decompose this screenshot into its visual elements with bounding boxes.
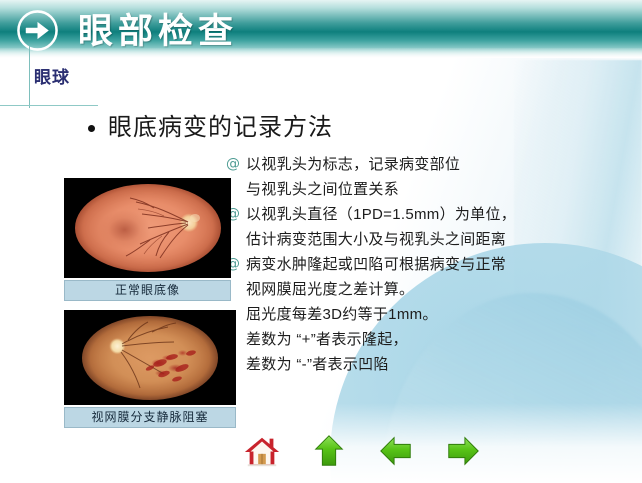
fundus-photo-brvo (64, 310, 236, 405)
arrow-up-icon[interactable] (310, 432, 348, 470)
home-icon[interactable] (243, 432, 281, 470)
arrow-left-icon[interactable] (377, 432, 415, 470)
body-list: @ 以视乳头为标志，记录病变部位 与视乳头之间位置关系 @ 以视乳头直径（1PD… (226, 152, 626, 377)
list-item: @ 以视乳头为标志，记录病变部位 与视乳头之间位置关系 (226, 152, 626, 202)
list-item-line: 估计病变范围大小及与视乳头之间距离 (246, 227, 626, 252)
figure-caption: 视网膜分支静脉阻塞 (64, 407, 236, 428)
figure-normal-fundus: 正常眼底像 (64, 178, 231, 301)
list-item-line: 以视乳头为标志，记录病变部位 (246, 152, 626, 177)
list-item-line: 屈光度每差3D约等于1mm。 (246, 302, 626, 327)
list-item: @ 以视乳头直径（1PD=1.5mm）为单位， 估计病变范围大小及与视乳头之间距… (226, 202, 626, 252)
list-item-line: 与视乳头之间位置关系 (246, 177, 626, 202)
main-heading: 眼底病变的记录方法 (88, 112, 333, 142)
list-item-line: 差数为 “+”者表示隆起， (246, 327, 626, 352)
retinal-vessels (64, 310, 236, 405)
page-title: 眼部检查 (78, 3, 238, 54)
circle-arrow-right-icon (16, 9, 59, 52)
list-item-line: 视网膜屈光度之差计算。 (246, 277, 626, 302)
figure-brvo-fundus: 视网膜分支静脉阻塞 (64, 310, 236, 428)
bullet-dot-icon (88, 125, 95, 132)
arrow-right-icon[interactable] (444, 432, 482, 470)
main-heading-text: 眼底病变的记录方法 (108, 112, 333, 142)
accent-horizontal-line (0, 105, 98, 106)
list-item: @ 病变水肿隆起或凹陷可根据病变与正常 视网膜屈光度之差计算。 屈光度每差3D约… (226, 252, 626, 377)
fundus-photo-normal (64, 178, 231, 278)
accent-vertical-line (29, 46, 30, 108)
list-item-lines: 病变水肿隆起或凹陷可根据病变与正常 视网膜屈光度之差计算。 屈光度每差3D约等于… (246, 252, 626, 377)
retinal-vessels (64, 178, 231, 278)
slide-root: 眼部检查 眼球 眼底病变的记录方法 @ 以视乳头为标志，记录病变部位 与视乳头之… (0, 0, 642, 483)
at-marker-icon: @ (226, 152, 246, 177)
list-item-lines: 以视乳头为标志，记录病变部位 与视乳头之间位置关系 (246, 152, 626, 202)
section-subtitle: 眼球 (34, 63, 70, 88)
list-item-line: 差数为 “-”者表示凹陷 (246, 352, 626, 377)
list-item-line: 病变水肿隆起或凹陷可根据病变与正常 (246, 252, 626, 277)
list-item-lines: 以视乳头直径（1PD=1.5mm）为单位， 估计病变范围大小及与视乳头之间距离 (246, 202, 626, 252)
list-item-line: 以视乳头直径（1PD=1.5mm）为单位， (246, 202, 626, 227)
navigation-bar (243, 432, 482, 470)
figure-caption: 正常眼底像 (64, 280, 231, 301)
